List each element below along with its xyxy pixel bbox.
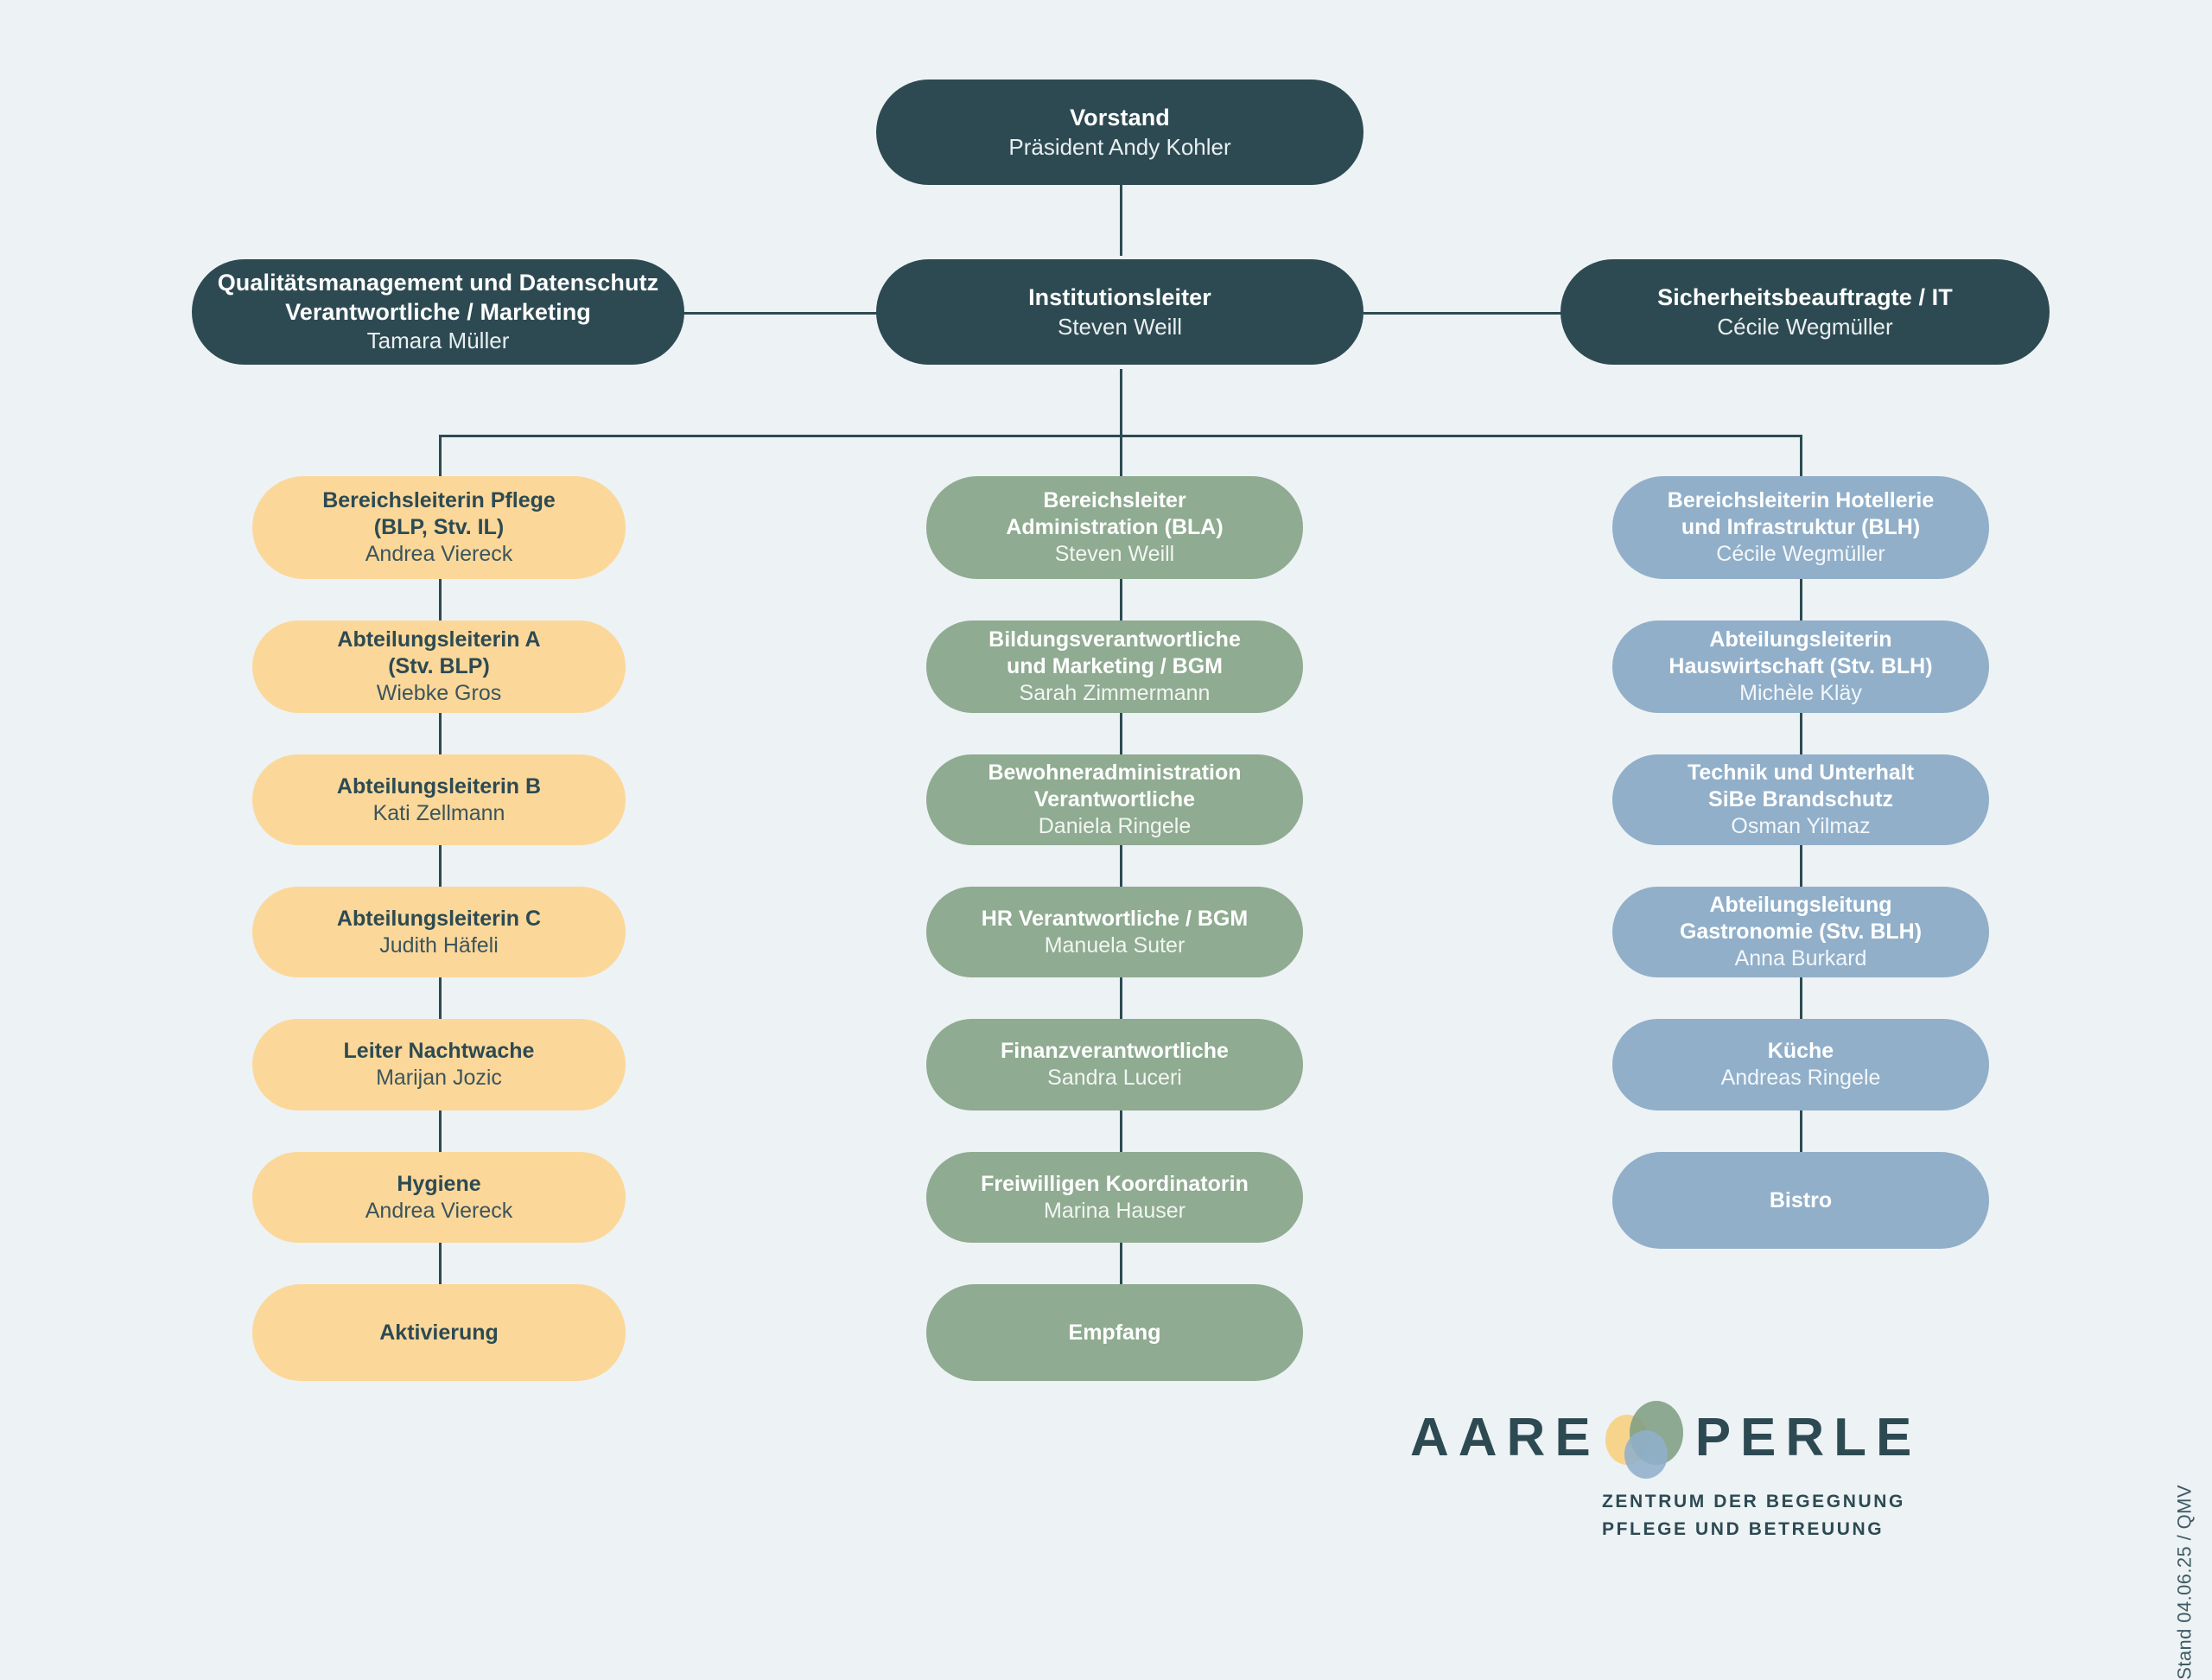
connector-drop-administration: [1120, 435, 1122, 476]
aareperle-logo: AARE PERLE ZENTRUM DER BEGEGNUNG PFLEGE …: [1410, 1398, 1963, 1545]
node-title-line2: Administration (BLA): [1006, 514, 1223, 541]
connector-admin-6: [1120, 1243, 1122, 1284]
node-title-line1: Küche: [1768, 1038, 1834, 1065]
node-title-line2: Verantwortliche: [1034, 786, 1195, 813]
node-kueche[interactable]: Küche Andreas Ringele: [1612, 1019, 1989, 1110]
node-person: Cécile Wegmüller: [1716, 541, 1885, 568]
node-il-person: Steven Weill: [1058, 313, 1182, 340]
node-title-line1: Abteilungsleiterin: [1709, 627, 1891, 653]
connector-pflege-2: [439, 713, 442, 754]
node-person: Sandra Luceri: [1047, 1065, 1182, 1091]
node-title-line1: Bereichsleiterin Hotellerie: [1668, 487, 1934, 514]
node-bereichsleiter-administration[interactable]: Bereichsleiter Administration (BLA) Stev…: [926, 476, 1303, 579]
node-bistro[interactable]: Bistro: [1612, 1152, 1989, 1249]
node-title-line1: Technik und Unterhalt: [1688, 760, 1914, 786]
node-abteilungsleiterin-b[interactable]: Abteilungsleiterin B Kati Zellmann: [252, 754, 626, 845]
connector-hotel-1: [1800, 579, 1802, 620]
connector-hotel-4: [1800, 977, 1802, 1019]
node-title-line1: Freiwilligen Koordinatorin: [981, 1171, 1249, 1198]
connector-admin-3: [1120, 845, 1122, 887]
logo-tagline-line2: PFLEGE UND BETREUUNG: [1602, 1516, 1963, 1543]
node-freiwilligen-koordinatorin[interactable]: Freiwilligen Koordinatorin Marina Hauser: [926, 1152, 1303, 1243]
node-person: Daniela Ringele: [1039, 813, 1192, 840]
node-qualitaetsmanagement[interactable]: Qualitätsmanagement und Datenschutz Vera…: [192, 259, 684, 365]
connector-il-to-sibe: [1363, 312, 1562, 315]
logo-tagline-line1: ZENTRUM DER BEGEGNUNG: [1602, 1488, 1963, 1516]
node-qm-title-line1: Qualitätsmanagement und Datenschutz: [218, 269, 659, 297]
node-technik-unterhalt-sibe-brandschutz[interactable]: Technik und Unterhalt SiBe Brandschutz O…: [1612, 754, 1989, 845]
connector-il-to-qm: [683, 312, 877, 315]
node-qm-title-line2: Verantwortliche / Marketing: [285, 298, 591, 327]
node-person: Wiebke Gros: [377, 680, 501, 707]
node-person: Marijan Jozic: [376, 1065, 502, 1091]
connector-hotel-5: [1800, 1110, 1802, 1152]
logo-word-perle: PERLE: [1695, 1411, 1922, 1465]
node-abteilungsleitung-gastronomie[interactable]: Abteilungsleitung Gastronomie (Stv. BLH)…: [1612, 887, 1989, 977]
node-person: Manuela Suter: [1045, 932, 1185, 959]
node-abteilungsleiterin-hauswirtschaft[interactable]: Abteilungsleiterin Hauswirtschaft (Stv. …: [1612, 620, 1989, 713]
node-person: Marina Hauser: [1044, 1198, 1185, 1225]
node-leiter-nachtwache[interactable]: Leiter Nachtwache Marijan Jozic: [252, 1019, 626, 1110]
node-title-line2: (BLP, Stv. IL): [374, 514, 504, 541]
connector-il-down: [1120, 369, 1122, 436]
node-person: Judith Häfeli: [379, 932, 499, 959]
node-title-line1: Abteilungsleiterin A: [337, 627, 540, 653]
node-title-line1: Bildungsverantwortliche: [988, 627, 1241, 653]
connector-drop-pflege: [439, 435, 442, 476]
connector-admin-5: [1120, 1110, 1122, 1152]
node-title-line1: Abteilungsleitung: [1709, 892, 1891, 919]
connector-pflege-5: [439, 1110, 442, 1152]
connector-vorstand-to-il: [1120, 184, 1122, 256]
node-title-line1: Bereichsleiterin Pflege: [322, 487, 556, 514]
node-person: Andreas Ringele: [1721, 1065, 1881, 1091]
node-abteilungsleiterin-a[interactable]: Abteilungsleiterin A (Stv. BLP) Wiebke G…: [252, 620, 626, 713]
logo-wordmark: AARE PERLE: [1410, 1398, 1963, 1478]
node-title-line2: SiBe Brandschutz: [1708, 786, 1893, 813]
node-title-line1: HR Verantwortliche / BGM: [982, 906, 1248, 932]
org-chart-canvas: Vorstand Präsident Andy Kohler Qualitäts…: [0, 0, 2212, 1564]
node-person: Steven Weill: [1055, 541, 1175, 568]
node-bereichsleiterin-pflege[interactable]: Bereichsleiterin Pflege (BLP, Stv. IL) A…: [252, 476, 626, 579]
connector-admin-2: [1120, 713, 1122, 754]
node-person: Andrea Viereck: [365, 1198, 512, 1225]
node-sicherheitsbeauftragte-it[interactable]: Sicherheitsbeauftragte / IT Cécile Wegmü…: [1560, 259, 2050, 365]
stand-version-label: Stand 04.06.25 / QMV: [2174, 1485, 2196, 1680]
node-person: Kati Zellmann: [373, 800, 505, 827]
node-title-line1: Leiter Nachtwache: [344, 1038, 535, 1065]
logo-tagline: ZENTRUM DER BEGEGNUNG PFLEGE UND BETREUU…: [1602, 1488, 1963, 1543]
connector-pflege-1: [439, 579, 442, 620]
node-title-line2: und Infrastruktur (BLH): [1681, 514, 1920, 541]
node-title-line1: Hygiene: [397, 1171, 480, 1198]
node-finanzverantwortliche[interactable]: Finanzverantwortliche Sandra Luceri: [926, 1019, 1303, 1110]
connector-admin-4: [1120, 977, 1122, 1019]
node-empfang[interactable]: Empfang: [926, 1284, 1303, 1381]
node-sibe-title: Sicherheitsbeauftragte / IT: [1657, 283, 1953, 312]
node-title-line2: (Stv. BLP): [388, 653, 490, 680]
node-person: Andrea Viereck: [365, 541, 512, 568]
node-title-line1: Abteilungsleiterin B: [337, 773, 541, 800]
node-vorstand[interactable]: Vorstand Präsident Andy Kohler: [876, 80, 1363, 185]
connector-pflege-6: [439, 1243, 442, 1284]
connector-admin-1: [1120, 579, 1122, 620]
node-bildungsverantwortliche-marketing-bgm[interactable]: Bildungsverantwortliche und Marketing / …: [926, 620, 1303, 713]
node-vorstand-person: Präsident Andy Kohler: [1008, 133, 1230, 161]
node-vorstand-title: Vorstand: [1070, 104, 1170, 132]
node-title-line1: Abteilungsleiterin C: [337, 906, 541, 932]
node-qm-person: Tamara Müller: [367, 327, 510, 354]
connector-bus: [439, 435, 1802, 437]
node-person: Anna Burkard: [1735, 945, 1867, 972]
node-institutionsleiter[interactable]: Institutionsleiter Steven Weill: [876, 259, 1363, 365]
node-sibe-person: Cécile Wegmüller: [1717, 313, 1892, 340]
logo-circle-blue: [1624, 1430, 1668, 1479]
node-hygiene[interactable]: Hygiene Andrea Viereck: [252, 1152, 626, 1243]
connector-hotel-3: [1800, 845, 1802, 887]
node-title-line1: Aktivierung: [379, 1320, 499, 1346]
connector-pflege-4: [439, 977, 442, 1019]
node-title-line1: Finanzverantwortliche: [1001, 1038, 1229, 1065]
node-person: Osman Yilmaz: [1731, 813, 1870, 840]
node-bereichsleiterin-hotellerie[interactable]: Bereichsleiterin Hotellerie und Infrastr…: [1612, 476, 1989, 579]
node-title-line2: und Marketing / BGM: [1007, 653, 1223, 680]
logo-word-aare: AARE: [1410, 1411, 1600, 1465]
node-title-line1: Bewohneradministration: [988, 760, 1241, 786]
connector-drop-hotellerie: [1800, 435, 1802, 476]
node-title-line2: Gastronomie (Stv. BLH): [1680, 919, 1922, 945]
node-title-line1: Bereichsleiter: [1043, 487, 1185, 514]
node-title-line1: Bistro: [1770, 1187, 1832, 1214]
connector-pflege-3: [439, 845, 442, 887]
logo-circles-icon: [1605, 1401, 1685, 1475]
connector-hotel-2: [1800, 713, 1802, 754]
node-title-line1: Empfang: [1069, 1320, 1161, 1346]
node-hr-verantwortliche-bgm[interactable]: HR Verantwortliche / BGM Manuela Suter: [926, 887, 1303, 977]
node-title-line2: Hauswirtschaft (Stv. BLH): [1669, 653, 1932, 680]
node-aktivierung[interactable]: Aktivierung: [252, 1284, 626, 1381]
node-il-title: Institutionsleiter: [1028, 283, 1211, 312]
node-person: Michèle Kläy: [1739, 680, 1862, 707]
node-person: Sarah Zimmermann: [1020, 680, 1211, 707]
node-abteilungsleiterin-c[interactable]: Abteilungsleiterin C Judith Häfeli: [252, 887, 626, 977]
node-bewohneradministration-verantwortliche[interactable]: Bewohneradministration Verantwortliche D…: [926, 754, 1303, 845]
